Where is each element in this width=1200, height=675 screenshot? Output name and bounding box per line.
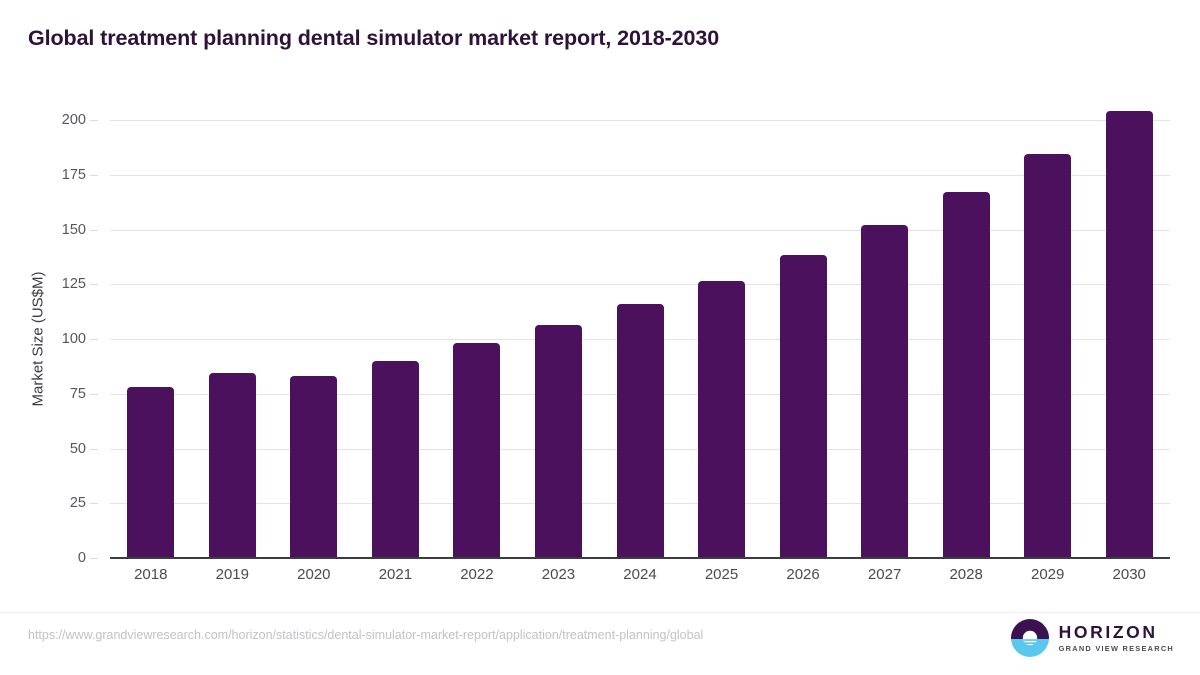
y-axis-tick-label: 0 bbox=[0, 550, 98, 566]
bar-2026[interactable] bbox=[780, 255, 827, 558]
bar-2018[interactable] bbox=[127, 387, 174, 558]
bar-2019[interactable] bbox=[209, 373, 256, 558]
bar-2027[interactable] bbox=[861, 225, 908, 558]
bar-2020[interactable] bbox=[290, 376, 337, 558]
bar-2024[interactable] bbox=[617, 304, 664, 558]
y-axis-tick-mark bbox=[90, 449, 98, 450]
y-axis-tick-label: 25 bbox=[0, 495, 98, 511]
bar-2023[interactable] bbox=[535, 325, 582, 558]
x-axis-tick-label: 2030 bbox=[1088, 566, 1170, 583]
y-axis-tick-label: 175 bbox=[0, 167, 98, 183]
bar-2025[interactable] bbox=[698, 281, 745, 558]
y-axis-tick-label: 50 bbox=[0, 441, 98, 457]
x-axis-tick-label: 2018 bbox=[110, 566, 192, 583]
x-axis-tick-label: 2020 bbox=[273, 566, 355, 583]
logo-name: HORIZON bbox=[1059, 623, 1174, 641]
y-axis-tick-mark bbox=[90, 558, 98, 559]
y-axis-tick-mark bbox=[90, 503, 98, 504]
y-axis-tick-label: 200 bbox=[0, 112, 98, 128]
x-axis-tick-label: 2022 bbox=[436, 566, 518, 583]
gridline bbox=[110, 175, 1170, 176]
y-axis-tick-mark bbox=[90, 284, 98, 285]
horizon-sun-icon bbox=[1010, 618, 1050, 658]
y-axis-tick-mark bbox=[90, 230, 98, 231]
x-axis-tick-label: 2021 bbox=[355, 566, 437, 583]
logo-tagline: GRAND VIEW RESEARCH bbox=[1059, 644, 1174, 653]
bar-2028[interactable] bbox=[943, 192, 990, 558]
y-axis-tick-label: 125 bbox=[0, 276, 98, 292]
y-axis-tick-labels: 0255075100125150175200 bbox=[0, 120, 98, 558]
gridline bbox=[110, 284, 1170, 285]
bar-2029[interactable] bbox=[1024, 154, 1071, 558]
y-axis-tick-mark bbox=[90, 394, 98, 395]
x-axis-line bbox=[110, 557, 1170, 559]
footer-divider bbox=[0, 612, 1200, 613]
x-axis-tick-label: 2026 bbox=[762, 566, 844, 583]
chart-page: Global treatment planning dental simulat… bbox=[0, 0, 1200, 675]
x-axis-tick-labels: 2018201920202021202220232024202520262027… bbox=[110, 566, 1170, 596]
y-axis-tick-mark bbox=[90, 339, 98, 340]
source-url[interactable]: https://www.grandviewresearch.com/horizo… bbox=[28, 628, 703, 642]
bar-2021[interactable] bbox=[372, 361, 419, 558]
plot-area bbox=[110, 120, 1170, 558]
x-axis-tick-label: 2019 bbox=[192, 566, 274, 583]
x-axis-tick-label: 2023 bbox=[518, 566, 600, 583]
y-axis-tick-mark bbox=[90, 175, 98, 176]
y-axis-tick-label: 100 bbox=[0, 331, 98, 347]
y-axis-tick-label: 150 bbox=[0, 222, 98, 238]
gridline bbox=[110, 230, 1170, 231]
horizon-logo[interactable]: HORIZON GRAND VIEW RESEARCH bbox=[1010, 618, 1174, 658]
x-axis-tick-label: 2029 bbox=[1007, 566, 1089, 583]
y-axis-tick-label: 75 bbox=[0, 386, 98, 402]
logo-text: HORIZON GRAND VIEW RESEARCH bbox=[1059, 623, 1174, 652]
bar-2022[interactable] bbox=[453, 343, 500, 558]
y-axis-tick-mark bbox=[90, 120, 98, 121]
x-axis-tick-label: 2027 bbox=[844, 566, 926, 583]
x-axis-tick-label: 2028 bbox=[925, 566, 1007, 583]
x-axis-tick-label: 2024 bbox=[599, 566, 681, 583]
x-axis-tick-label: 2025 bbox=[681, 566, 763, 583]
bar-2030[interactable] bbox=[1106, 111, 1153, 558]
page-title: Global treatment planning dental simulat… bbox=[28, 26, 719, 51]
gridline bbox=[110, 120, 1170, 121]
